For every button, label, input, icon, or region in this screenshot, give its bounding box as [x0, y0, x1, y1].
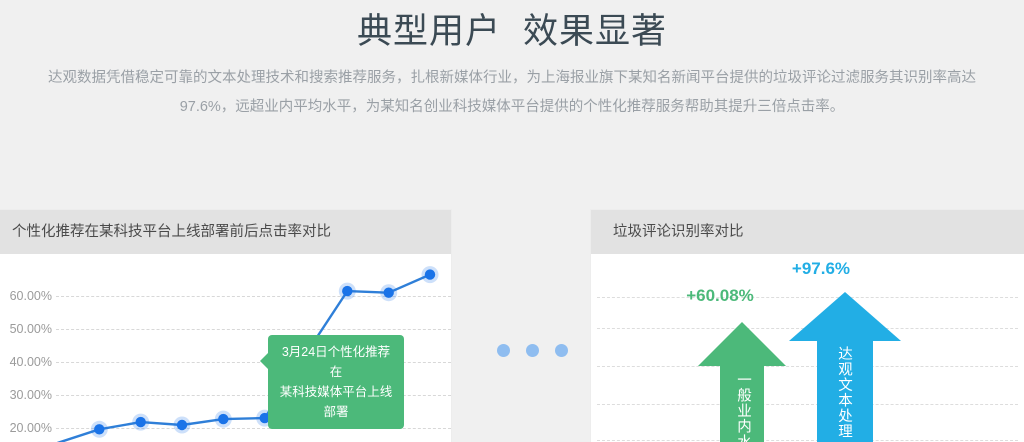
page-description: 达观数据凭借稳定可靠的文本处理技术和搜索推荐服务，扎根新媒体行业，为上海报业旗下…	[38, 64, 986, 122]
card-right-body: +60.08% 一般业内水平 +97.6% 达观文本处理	[591, 254, 1024, 442]
page-title-part2: 效果显著	[523, 12, 667, 51]
callout-line-2: 某科技媒体平台上线部署	[277, 382, 395, 422]
page-root: 典型用户效果显著 达观数据凭借稳定可靠的文本处理技术和搜索推荐服务，扎根新媒体行…	[0, 0, 1024, 442]
carousel-pagination[interactable]	[497, 344, 568, 357]
bar-blue: +97.6% 达观文本处理	[591, 254, 1024, 442]
chart-annotation-callout: 3月24日个性化推荐在 某科技媒体平台上线部署	[268, 335, 404, 429]
card-right-header: 垃圾评论识别率对比	[591, 210, 1024, 254]
card-left-header: 个性化推荐在某科技平台上线部署前后点击率对比	[0, 210, 451, 254]
bar-blue-value: +97.6%	[741, 259, 901, 279]
carousel-dot-1[interactable]	[497, 344, 510, 357]
card-click-rate-comparison: 个性化推荐在某科技平台上线部署前后点击率对比 60.00% 50.00% 40.…	[0, 210, 451, 442]
card-spam-detection-comparison: 垃圾评论识别率对比 +60.08% 一般业内水平 +97.6%	[591, 210, 1024, 442]
card-left-body: 60.00% 50.00% 40.00% 30.00% 20.00% 3月24日…	[0, 254, 451, 442]
arrow-bar-chart: +60.08% 一般业内水平 +97.6% 达观文本处理	[591, 254, 1024, 442]
bar-blue-label: 达观文本处理	[835, 346, 852, 439]
callout-line-1: 3月24日个性化推荐在	[277, 342, 395, 382]
bar-blue-arrowhead	[789, 292, 901, 341]
page-title-part1: 典型用户	[357, 12, 501, 51]
callout-tail	[260, 353, 268, 369]
line-chart: 60.00% 50.00% 40.00% 30.00% 20.00% 3月24日…	[0, 254, 451, 442]
carousel-dot-2[interactable]	[526, 344, 539, 357]
carousel-dot-3[interactable]	[555, 344, 568, 357]
card-right-title: 垃圾评论识别率对比	[613, 223, 1024, 241]
page-title: 典型用户效果显著	[0, 6, 1024, 58]
card-left-title: 个性化推荐在某科技平台上线部署前后点击率对比	[12, 223, 451, 241]
